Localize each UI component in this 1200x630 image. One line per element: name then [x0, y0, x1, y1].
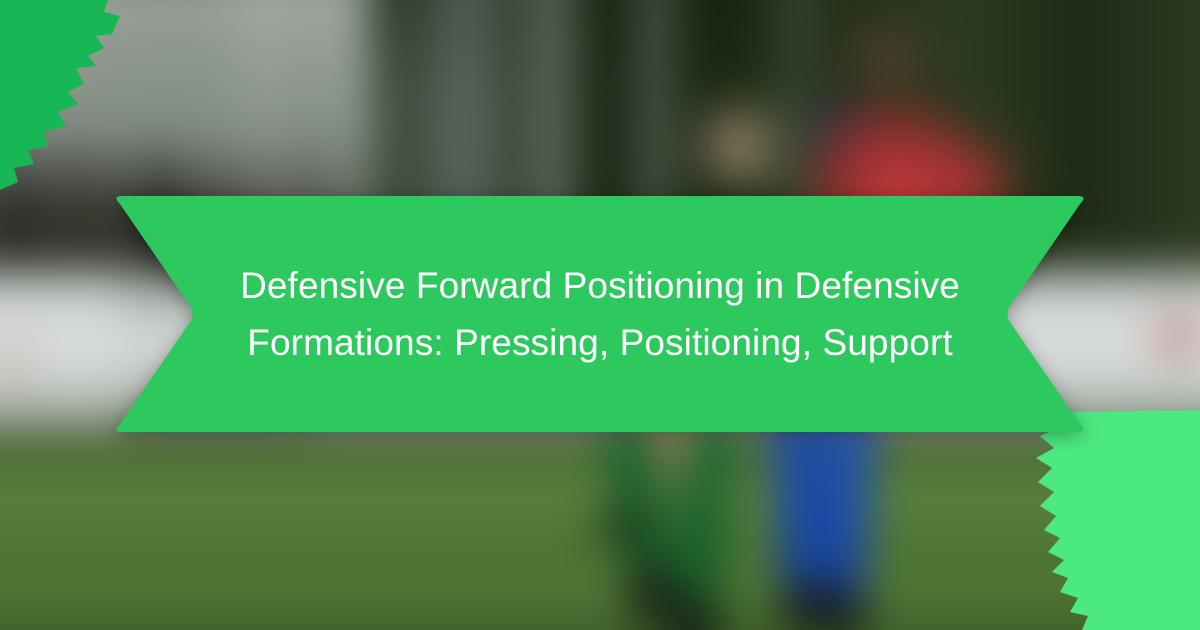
photo-hoarding-logo	[1141, 300, 1200, 375]
photo-hoarding-logo-left	[0, 330, 32, 390]
title-line-1: Defensive Forward Positioning in Defensi…	[240, 257, 960, 314]
social-share-card: Defensive Forward Positioning in Defensi…	[0, 0, 1200, 630]
title-line-2: Formations: Pressing, Positioning, Suppo…	[247, 314, 952, 371]
photo-person-pale	[679, 83, 798, 211]
title-banner-text: Defensive Forward Positioning in Defensi…	[104, 196, 1096, 432]
photo-player-boot	[580, 499, 662, 552]
